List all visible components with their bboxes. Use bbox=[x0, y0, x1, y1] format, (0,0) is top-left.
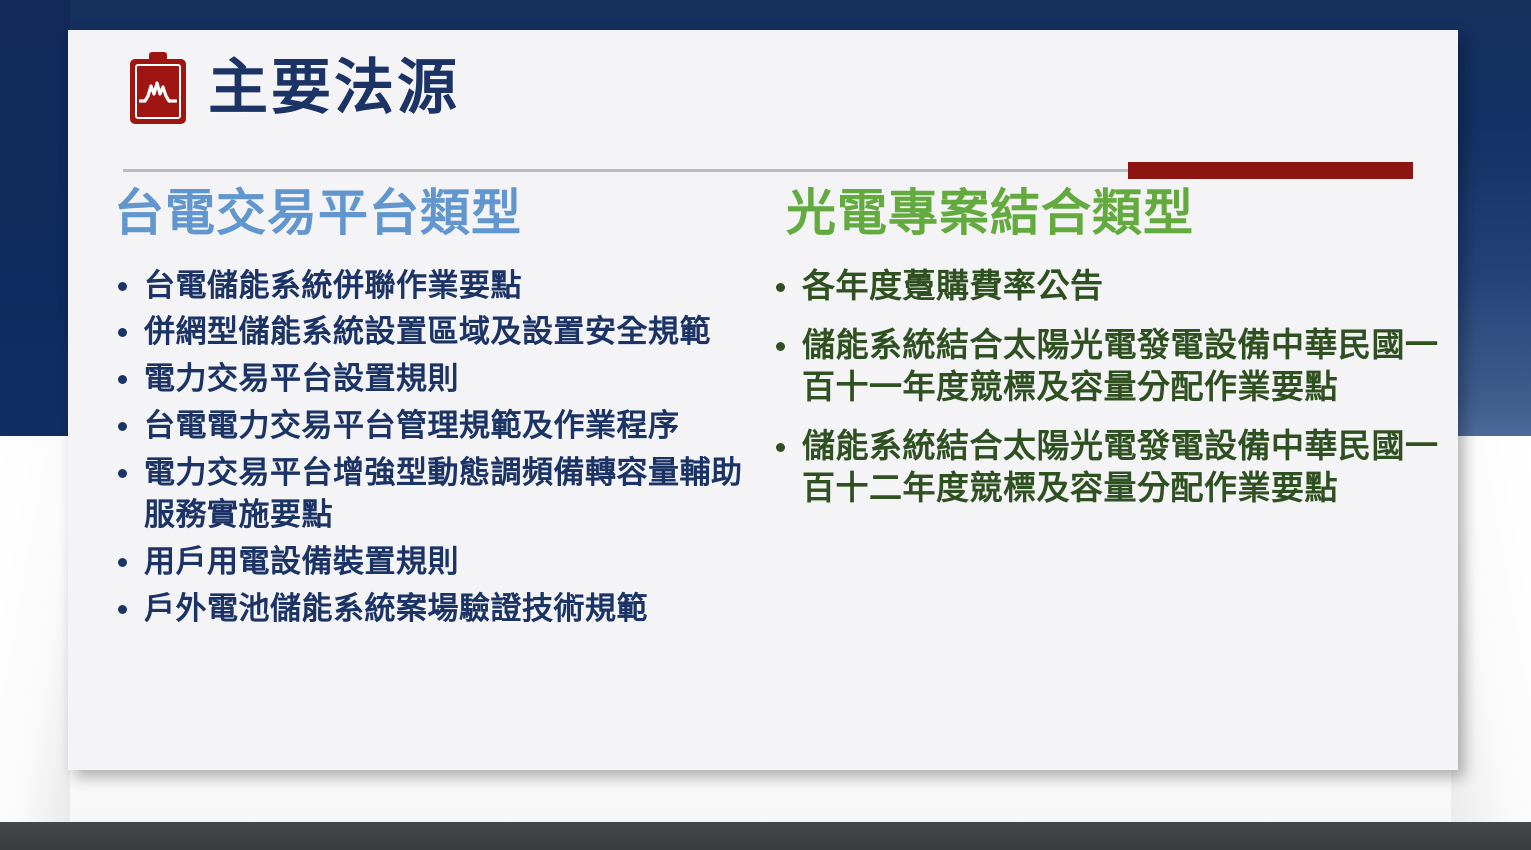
slide-header: 主要法源 bbox=[130, 52, 460, 124]
list-item: 用戶用電設備裝置規則 bbox=[110, 541, 750, 584]
list-solar: 各年度躉購費率公告 儲能系統結合太陽光電發電設備中華民國一百十一年度競標及容量分… bbox=[768, 265, 1440, 509]
list-item: 台電電力交易平台管理規範及作業程序 bbox=[110, 405, 750, 448]
column-heading-taipower: 台電交易平台類型 bbox=[110, 185, 750, 243]
footer-bar bbox=[0, 822, 1531, 850]
list-item: 電力交易平台增強型動態調頻備轉容量輔助服務實施要點 bbox=[110, 452, 750, 538]
list-item: 電力交易平台設置規則 bbox=[110, 358, 750, 401]
divider-accent-bar bbox=[1128, 162, 1413, 179]
slide-card: 主要法源 台電交易平台類型 台電儲能系統併聯作業要點 併網型儲能系統設置區域及設… bbox=[68, 30, 1458, 770]
page-title: 主要法源 bbox=[208, 58, 460, 118]
clipboard-chart-icon bbox=[130, 52, 186, 124]
content-columns: 台電交易平台類型 台電儲能系統併聯作業要點 併網型儲能系統設置區域及設置安全規範… bbox=[68, 185, 1458, 635]
list-item: 儲能系統結合太陽光電發電設備中華民國一百十二年度競標及容量分配作業要點 bbox=[768, 425, 1440, 508]
backdrop-navy-band-left bbox=[0, 0, 70, 436]
list-taipower: 台電儲能系統併聯作業要點 併網型儲能系統設置區域及設置安全規範 電力交易平台設置… bbox=[110, 265, 750, 631]
list-item: 戶外電池儲能系統案場驗證技術規範 bbox=[110, 588, 750, 631]
list-item: 各年度躉購費率公告 bbox=[768, 265, 1440, 307]
list-item: 併網型儲能系統設置區域及設置安全規範 bbox=[110, 311, 750, 354]
backdrop-lower-wash-right bbox=[1451, 436, 1531, 822]
list-item: 儲能系統結合太陽光電發電設備中華民國一百十一年度競標及容量分配作業要點 bbox=[768, 324, 1440, 407]
header-divider bbox=[123, 160, 1413, 182]
column-heading-solar: 光電專案結合類型 bbox=[768, 185, 1440, 243]
list-item: 台電儲能系統併聯作業要點 bbox=[110, 265, 750, 308]
column-solar: 光電專案結合類型 各年度躉購費率公告 儲能系統結合太陽光電發電設備中華民國一百十… bbox=[758, 185, 1458, 635]
slide-backdrop: 主要法源 台電交易平台類型 台電儲能系統併聯作業要點 併網型儲能系統設置區域及設… bbox=[0, 0, 1531, 850]
backdrop-lower-wash-left bbox=[0, 436, 70, 822]
column-taipower: 台電交易平台類型 台電儲能系統併聯作業要點 併網型儲能系統設置區域及設置安全規範… bbox=[68, 185, 758, 635]
